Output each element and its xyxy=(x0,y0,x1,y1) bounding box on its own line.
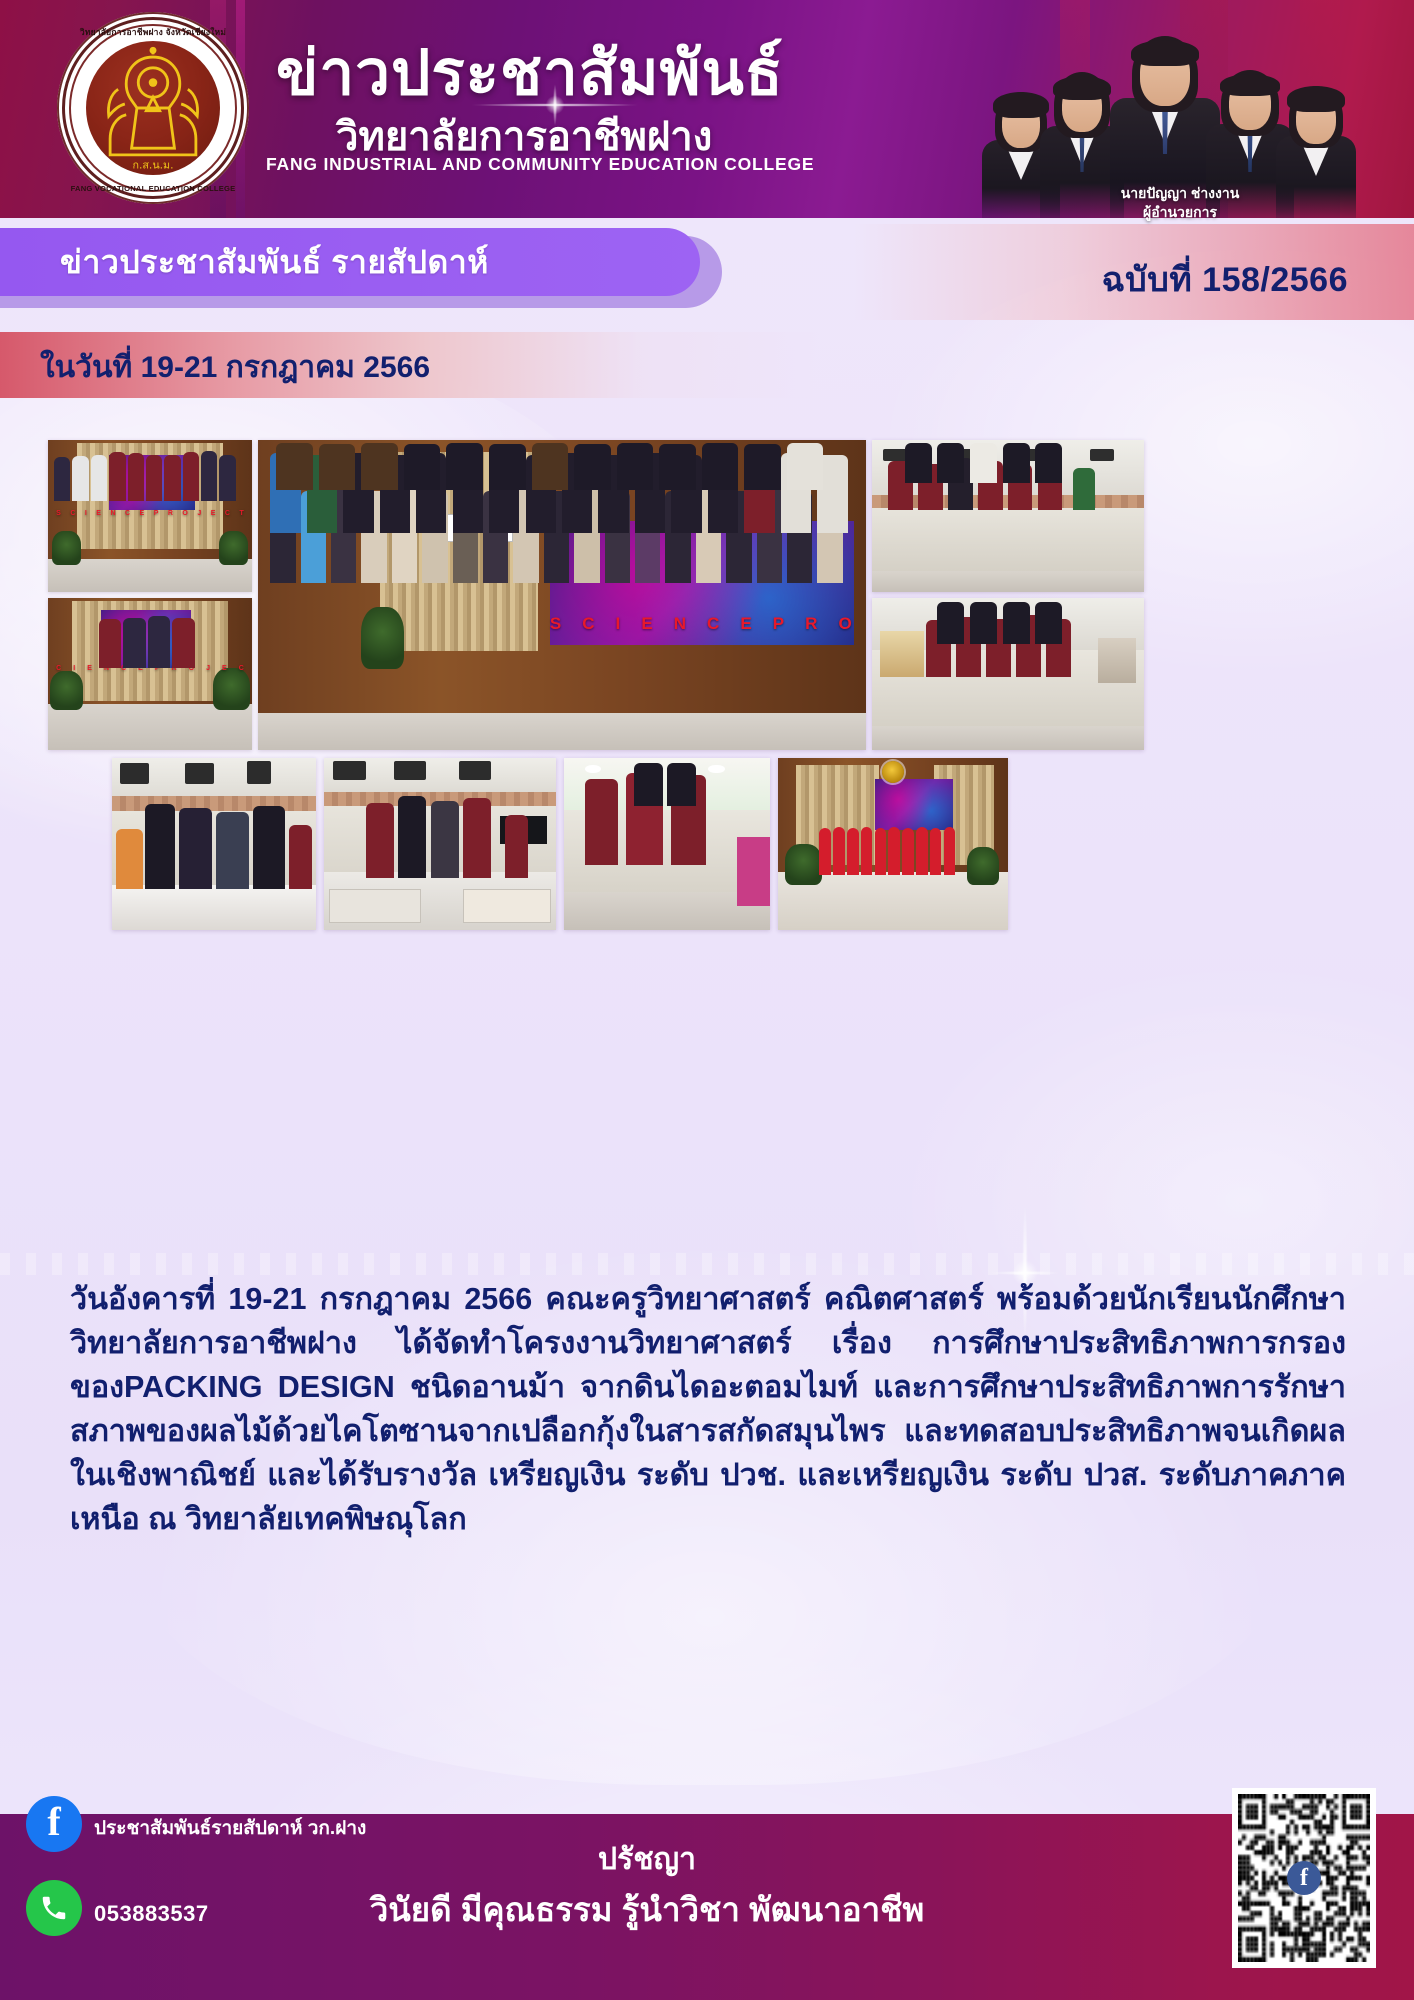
weekly-news-pill: ข่าวประชาสัมพันธ์ รายสัปดาห์ xyxy=(0,228,700,296)
photo-overlay-text: SCIENCEPRO xyxy=(550,614,854,634)
facebook-icon-qr-center: f xyxy=(1287,1861,1321,1895)
photo-team-hall-top[interactable] xyxy=(872,440,1144,592)
issue-number: ฉบับที่ 158/2566 xyxy=(1102,252,1349,306)
motto-line: วินัยดี มีคุณธรรม รู้นำวิชา พัฒนาอาชีพ xyxy=(0,1883,1414,1936)
photo-award-group[interactable] xyxy=(564,758,770,930)
photo-group-stage-small-top[interactable]: SCIENCEPROJECT xyxy=(48,440,252,592)
article-paragraph: วันอังคารที่ 19-21 กรกฎาคม 2566 คณะครูวิ… xyxy=(70,1278,1346,1541)
director-caption: นายปัญญา ช่างงาน ผู้อำนวยการ xyxy=(1030,184,1330,222)
motto-title: ปรัชญา xyxy=(0,1836,1414,1883)
photo-overlay-text: SCIENCEPROJECT xyxy=(56,510,244,517)
article-body: วันอังคารที่ 19-21 กรกฎาคม 2566 คณะครูวิ… xyxy=(70,1278,1346,1541)
director-name: นายปัญญา ช่างงาน xyxy=(1030,184,1330,203)
director-role: ผู้อำนวยการ xyxy=(1030,203,1330,222)
photo-judging-booth[interactable] xyxy=(112,758,316,930)
photo-ceremony-stage[interactable] xyxy=(778,758,1008,930)
weekly-news-label: ข่าวประชาสัมพันธ์ รายสัปดาห์ xyxy=(60,237,489,288)
photo-team-hall-bottom[interactable] xyxy=(872,598,1144,750)
facebook-qr-code[interactable]: f xyxy=(1232,1788,1376,1968)
photo-group-stage-small-bottom[interactable]: CIENCEPROJEC xyxy=(48,598,252,750)
photo-group-main-stage[interactable]: SCIENCEPRO xyxy=(258,440,866,750)
photo-exhibition-booth[interactable] xyxy=(324,758,556,930)
event-date-text: ในวันที่ 19-21 กรกฎาคม 2566 xyxy=(40,344,430,391)
